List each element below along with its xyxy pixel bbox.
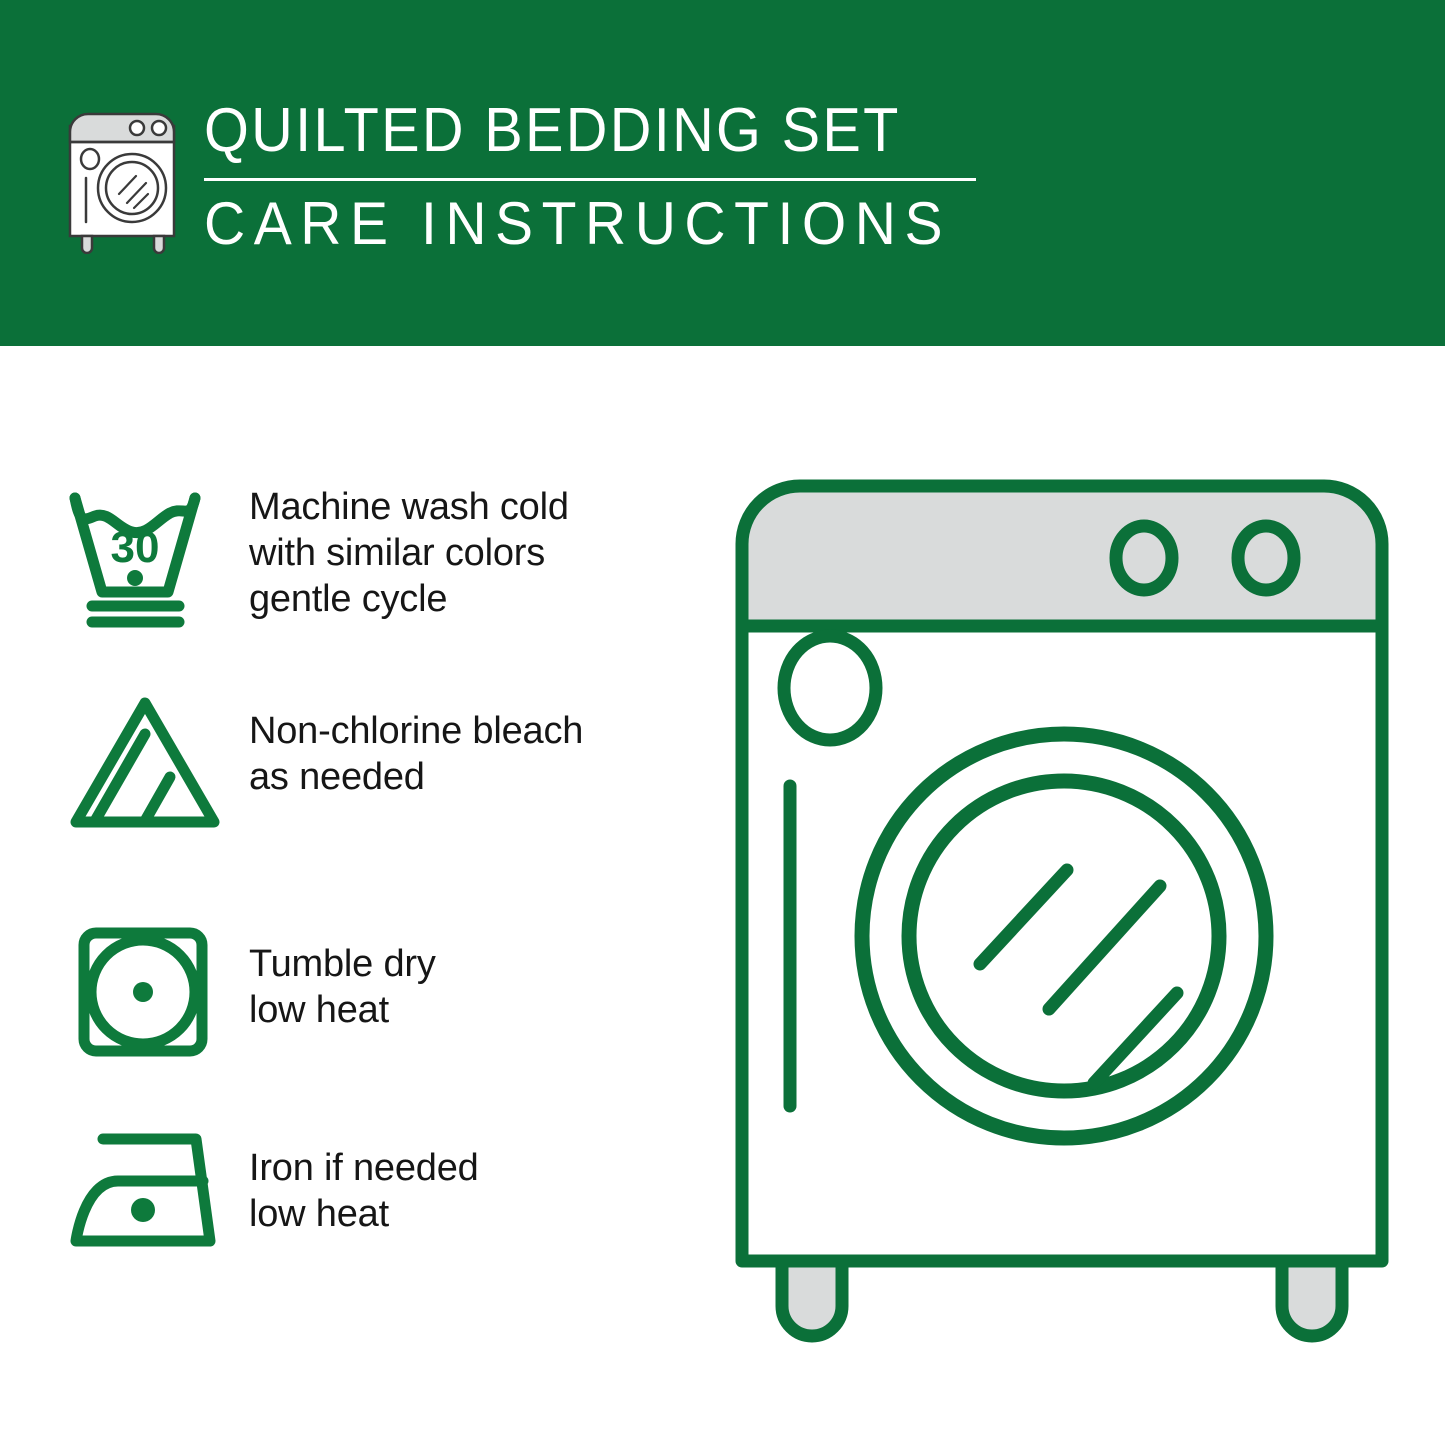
door-inner-ring xyxy=(909,781,1219,1091)
header-banner: QUILTED BEDDING SET CARE INSTRUCTIONS xyxy=(0,0,1445,346)
header-content: QUILTED BEDDING SET CARE INSTRUCTIONS xyxy=(62,96,990,256)
knob-right[interactable] xyxy=(1238,526,1294,590)
care-row-bleach: Non-chlorine bleach as needed xyxy=(62,686,682,911)
page-title: QUILTED BEDDING SET xyxy=(204,98,935,164)
wash-temperature-value: 30 xyxy=(111,523,160,572)
main-content: 30 Machine wash cold with similar colors… xyxy=(0,346,1445,1445)
care-instruction-list: 30 Machine wash cold with similar colors… xyxy=(62,474,682,1311)
care-label-line: low heat xyxy=(249,987,436,1033)
care-label-line: as needed xyxy=(249,754,583,800)
care-label-line: with similar colors xyxy=(249,530,569,576)
knob-left[interactable] xyxy=(1116,526,1172,590)
detergent-indicator xyxy=(784,636,876,740)
bleach-triangle-icon xyxy=(62,686,237,842)
leg-right xyxy=(1282,1261,1342,1336)
header-title-group: QUILTED BEDDING SET CARE INSTRUCTIONS xyxy=(204,96,990,256)
care-label-line: Machine wash cold xyxy=(249,484,569,530)
care-label-line: low heat xyxy=(249,1191,479,1237)
care-row-machine-wash: 30 Machine wash cold with similar colors… xyxy=(62,474,682,686)
title-divider xyxy=(204,178,976,181)
washing-machine-illustration xyxy=(722,466,1402,1356)
wash-tub-icon: 30 xyxy=(62,474,237,630)
care-label-line: gentle cycle xyxy=(249,576,569,622)
care-label-bleach: Non-chlorine bleach as needed xyxy=(237,686,583,800)
care-label-line: Iron if needed xyxy=(249,1145,479,1191)
iron-icon xyxy=(62,1111,237,1267)
care-row-tumble-dry: Tumble dry low heat xyxy=(62,911,682,1111)
leg-left xyxy=(782,1261,842,1336)
washing-machine-icon xyxy=(62,96,190,254)
care-label-line: Tumble dry xyxy=(249,941,436,987)
care-row-iron: Iron if needed low heat xyxy=(62,1111,682,1311)
care-label-tumble-dry: Tumble dry low heat xyxy=(237,911,436,1033)
care-label-line: Non-chlorine bleach xyxy=(249,708,583,754)
care-label-machine-wash: Machine wash cold with similar colors ge… xyxy=(237,474,569,622)
page-subtitle: CARE INSTRUCTIONS xyxy=(204,192,951,256)
tumble-dry-icon xyxy=(62,911,237,1067)
care-label-iron: Iron if needed low heat xyxy=(237,1111,479,1237)
